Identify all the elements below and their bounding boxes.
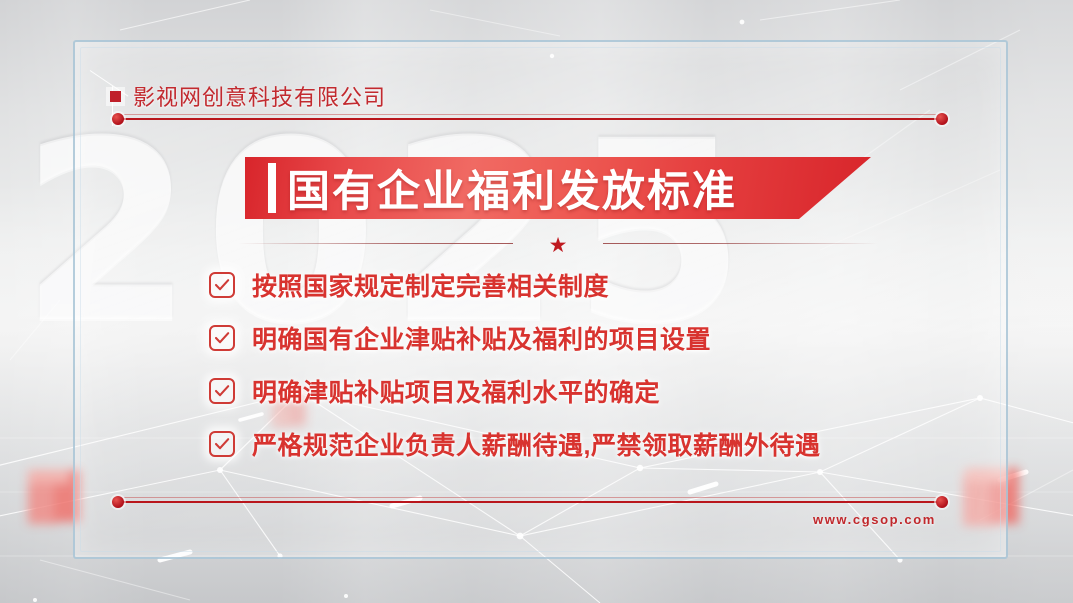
footer-rule-thin <box>124 497 936 498</box>
footer-rule-dot-right <box>936 496 948 508</box>
footer-rule-main <box>118 501 942 503</box>
checkbox-checked-icon[interactable] <box>209 378 235 404</box>
checkbox-checked-icon[interactable] <box>209 431 235 457</box>
list-item-label: 严格规范企业负责人薪酬待遇,严禁领取薪酬外待遇 <box>252 426 820 462</box>
header-company: 影视网创意科技有限公司 <box>110 80 386 112</box>
title-divider: ★ <box>238 236 878 252</box>
header-rule-main <box>118 118 942 120</box>
footer-rule-dot-left <box>112 496 124 508</box>
list-item[interactable]: 按照国家规定制定完善相关制度 <box>209 258 969 311</box>
footer-divider-rule <box>118 497 942 507</box>
header-divider-rule <box>118 114 942 124</box>
footer-website-url[interactable]: www.cgsop.com <box>813 512 936 527</box>
list-item-label: 明确津贴补贴项目及福利水平的确定 <box>252 373 660 409</box>
list-item-label: 明确国有企业津贴补贴及福利的项目设置 <box>252 320 711 356</box>
list-item-label: 按照国家规定制定完善相关制度 <box>252 267 609 303</box>
header-rule-thin <box>124 114 936 115</box>
header-rule-dot-left <box>112 113 124 125</box>
red-star-icon: ★ <box>548 236 568 256</box>
title-divider-line-left <box>238 243 513 244</box>
checkbox-checked-icon[interactable] <box>209 272 235 298</box>
title-divider-line-right <box>603 243 878 244</box>
list-item[interactable]: 明确津贴补贴项目及福利水平的确定 <box>209 364 969 417</box>
title-accent-bar <box>268 163 276 213</box>
checkbox-checked-icon[interactable] <box>209 325 235 351</box>
square-bullet-icon <box>110 91 121 102</box>
slide-canvas: 2025 <box>0 0 1073 603</box>
list-item[interactable]: 严格规范企业负责人薪酬待遇,严禁领取薪酬外待遇 <box>209 417 969 470</box>
bullet-list: 按照国家规定制定完善相关制度 明确国有企业津贴补贴及福利的项目设置 明确津贴补贴… <box>209 258 969 470</box>
company-name: 影视网创意科技有限公司 <box>133 80 386 112</box>
list-item[interactable]: 明确国有企业津贴补贴及福利的项目设置 <box>209 311 969 364</box>
page-title: 国有企业福利发放标准 <box>287 157 737 219</box>
title-banner: 国有企业福利发放标准 <box>245 157 871 219</box>
header-rule-dot-right <box>936 113 948 125</box>
